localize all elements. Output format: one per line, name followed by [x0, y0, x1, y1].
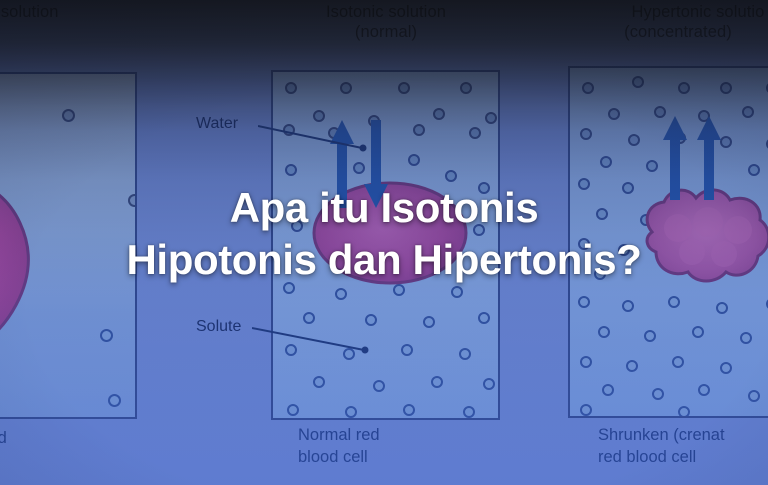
solute-dot	[646, 160, 658, 172]
solute-dot	[485, 112, 497, 124]
solute-dot	[628, 134, 640, 146]
solute-dot	[622, 300, 634, 312]
solute-dot	[108, 394, 121, 407]
panel-title-isotonic-line1: Isotonic solution	[256, 2, 516, 22]
solute-dot	[692, 326, 704, 338]
solute-dot	[483, 378, 495, 390]
solute-dot	[287, 404, 299, 416]
headline-line-2: Hipotonis dan Hipertonis?	[0, 234, 768, 286]
panel-caption-isotonic-line1: Normal red	[298, 425, 380, 446]
solute-dot	[373, 380, 385, 392]
solute-dot	[463, 406, 475, 418]
solute-dot	[451, 286, 463, 298]
solute-dot	[403, 404, 415, 416]
label-water: Water	[196, 115, 238, 133]
panel-caption-isotonic-line2: blood cell	[298, 447, 368, 468]
solute-dot	[632, 76, 644, 88]
panel-title-hypotonic-line2: dilute)	[0, 22, 100, 42]
solute-dot	[580, 404, 592, 416]
headline-line-1: Apa itu Isotonis	[0, 182, 768, 234]
panel-caption-hypertonic-line2: red blood cell	[598, 447, 696, 468]
solute-dot	[340, 82, 352, 94]
solute-dot	[644, 330, 656, 342]
solute-dot	[626, 360, 638, 372]
solute-dot	[652, 388, 664, 400]
solute-dot	[478, 312, 490, 324]
solute-dot	[742, 106, 754, 118]
solute-dot	[423, 316, 435, 328]
solute-dot	[720, 362, 732, 374]
solute-dot	[459, 348, 471, 360]
panel-caption-hypotonic-line1: en red	[0, 428, 7, 449]
solute-dot	[720, 82, 732, 94]
headline-overlay: Apa itu Isotonis Hipotonis dan Hipertoni…	[0, 182, 768, 286]
panel-title-hypotonic-line1: onic solution	[0, 2, 142, 22]
solute-dot	[598, 326, 610, 338]
solute-dot	[285, 82, 297, 94]
solute-dot	[469, 127, 481, 139]
leader-line-water	[258, 118, 378, 158]
solute-dot	[668, 296, 680, 308]
panel-caption-hypertonic-line1: Shrunken (crenat	[598, 425, 725, 446]
solute-dot	[431, 376, 443, 388]
solute-dot	[401, 344, 413, 356]
panel-title-isotonic-line2: (normal)	[256, 22, 516, 42]
solute-dot	[100, 329, 113, 342]
solute-dot	[578, 296, 590, 308]
solute-dot	[335, 288, 347, 300]
solute-dot	[345, 406, 357, 418]
solute-dot	[748, 164, 760, 176]
panel-title-hypertonic-line1: Hypertonic solutio	[558, 2, 768, 22]
solute-dot	[602, 384, 614, 396]
solute-dot	[433, 108, 445, 120]
solute-dot	[698, 384, 710, 396]
leader-line-solute	[252, 322, 382, 362]
solute-dot	[582, 82, 594, 94]
solute-dot	[580, 128, 592, 140]
solute-dot	[678, 406, 690, 418]
solute-dot	[285, 164, 297, 176]
panel-title-hypertonic-line2: (concentrated)	[548, 22, 768, 42]
solute-dot	[608, 108, 620, 120]
solute-dot	[600, 156, 612, 168]
solute-dot	[413, 124, 425, 136]
solute-dot	[313, 376, 325, 388]
solute-dot	[716, 302, 728, 314]
label-solute: Solute	[196, 318, 241, 336]
solute-dot	[740, 332, 752, 344]
solute-dot	[678, 82, 690, 94]
screenshot-root: onic solution dilute)	[0, 0, 768, 485]
solute-dot	[460, 82, 472, 94]
solute-dot	[398, 82, 410, 94]
solute-dot	[62, 109, 75, 122]
solute-dot	[672, 356, 684, 368]
solute-dot	[408, 154, 420, 166]
solute-dot	[748, 390, 760, 402]
solute-dot	[580, 356, 592, 368]
